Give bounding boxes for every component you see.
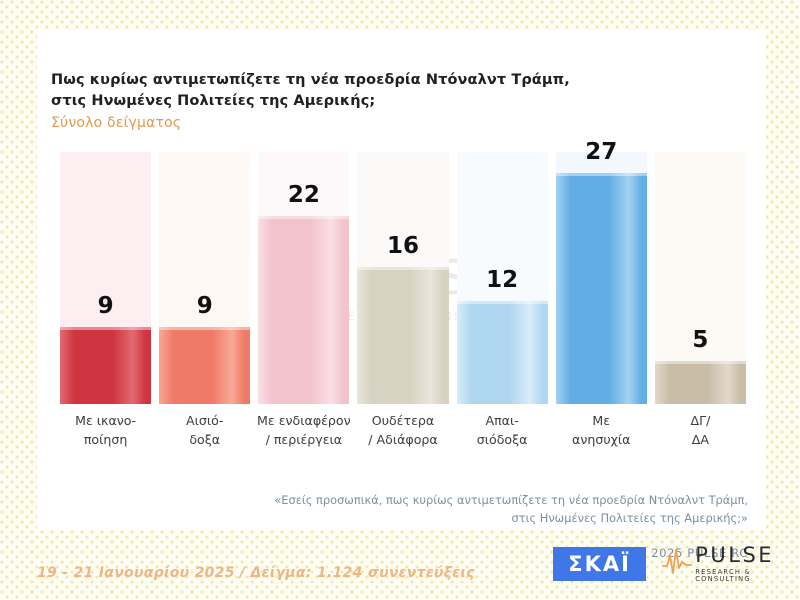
bar-value-label: 22 — [258, 184, 349, 207]
bar-column[interactable]: 16 — [357, 152, 448, 404]
bar-value-label: 9 — [159, 295, 250, 318]
category-label: Με ικανο- ποίηση — [51, 412, 160, 450]
category-label: Αισιό- δοξα — [150, 412, 259, 450]
survey-date-sample: 19 - 21 Ιανουαρίου 2025 / Δείγμα: 1.124 … — [37, 565, 475, 581]
bar[interactable] — [457, 301, 548, 404]
skai-logo-text: ΣΚΑΪ — [568, 554, 631, 575]
bar-top-highlight — [457, 301, 548, 304]
bar-value-label: 16 — [357, 235, 448, 258]
bar-top-highlight — [258, 216, 349, 219]
bar-value-label: 12 — [457, 269, 548, 292]
bar[interactable] — [159, 327, 250, 404]
bar[interactable] — [655, 361, 746, 404]
page-title: Πως κυρίως αντιμετωπίζετε τη νέα προεδρί… — [51, 70, 741, 112]
bar-value-label: 5 — [655, 329, 746, 352]
bar-value-label: 9 — [60, 295, 151, 318]
bar-top-highlight — [159, 327, 250, 330]
chart-subtitle: Σύνολο δείγματος — [51, 115, 741, 131]
bar-column[interactable]: 22 — [258, 152, 349, 404]
category-label: Με ανησυχία — [547, 412, 656, 450]
bar[interactable] — [556, 173, 647, 404]
bar-value-label: 27 — [556, 141, 647, 164]
pulse-logo-tagline: RESEARCH & CONSULTING — [695, 569, 800, 582]
bar-column[interactable]: 9 — [60, 152, 151, 404]
bar-column[interactable]: 12 — [457, 152, 548, 404]
chart-card: Πως κυρίως αντιμετωπίζετε τη νέα προεδρί… — [37, 30, 766, 530]
bar[interactable] — [60, 327, 151, 404]
bar-top-highlight — [357, 267, 448, 270]
pulse-logo[interactable]: PULSE RESEARCH & CONSULTING — [662, 545, 800, 582]
bar-column[interactable]: 9 — [159, 152, 250, 404]
bar-top-highlight — [60, 327, 151, 330]
skai-logo[interactable]: ΣΚΑΪ — [553, 547, 646, 581]
category-axis: Με ικανο- ποίησηΑισιό- δοξαΜε ενδιαφέρον… — [60, 412, 746, 460]
category-label: Με ενδιαφέρον / περιέργεια — [249, 412, 358, 450]
logo-row: ΣΚΑΪ PULSE RESEARCH & CONSULTING — [553, 542, 800, 586]
bar-column[interactable]: 5 — [655, 152, 746, 404]
bar[interactable] — [258, 216, 349, 404]
category-label: Ουδέτερα / Αδιάφορα — [348, 412, 457, 450]
bar-top-highlight — [556, 173, 647, 176]
heartbeat-icon — [662, 547, 692, 581]
footnote-question: «Εσείς προσωπικά, πως κυρίως αντιμετωπίζ… — [274, 492, 748, 527]
category-label: Απαι- σιόδοξα — [448, 412, 557, 450]
bar-chart-plot: 99221612275 — [60, 152, 746, 404]
pulse-logo-word: PULSE — [695, 545, 800, 566]
bar[interactable] — [357, 267, 448, 404]
chart-header: Πως κυρίως αντιμετωπίζετε τη νέα προεδρί… — [51, 70, 741, 131]
category-label: ΔΓ/ ΔΑ — [646, 412, 755, 450]
bar-top-highlight — [655, 361, 746, 364]
bar-column[interactable]: 27 — [556, 152, 647, 404]
